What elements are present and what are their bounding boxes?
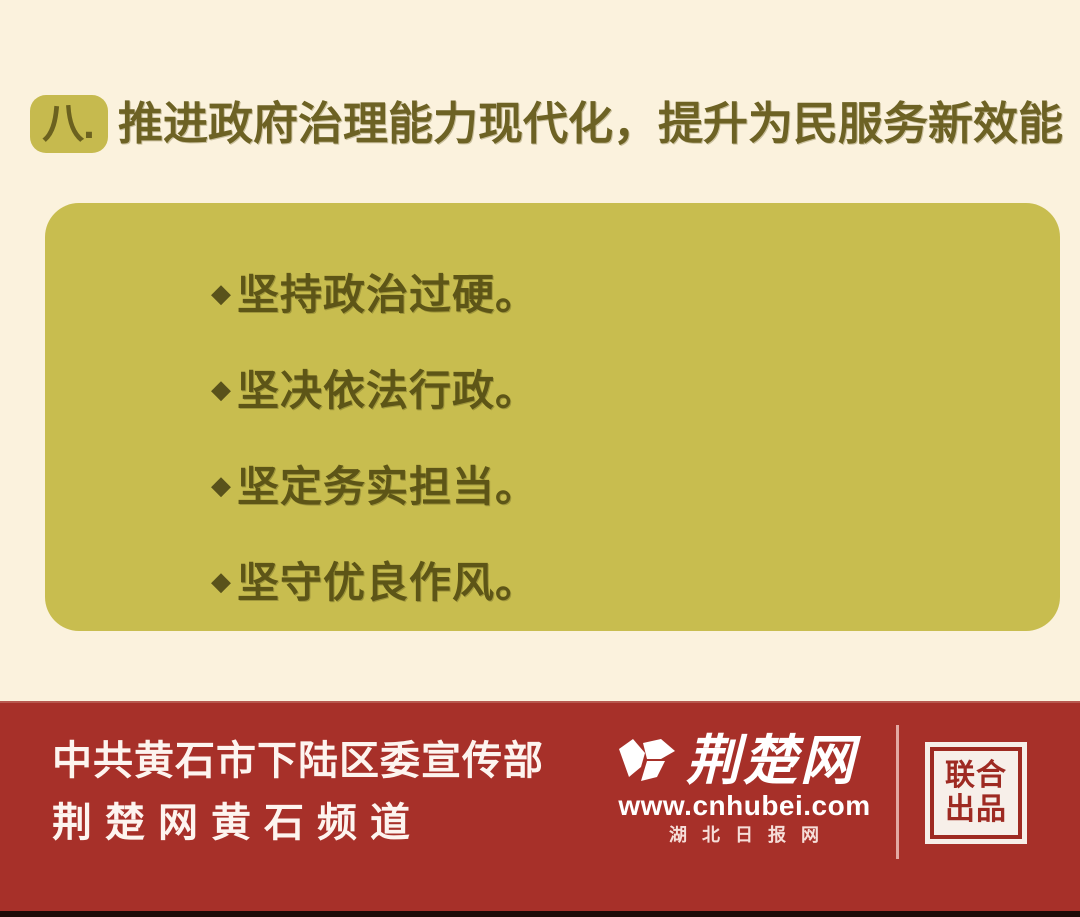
seal-line-1: 联合: [945, 759, 1007, 793]
footer-top-rule: [0, 701, 1080, 703]
logo-url: www.cnhubei.com: [617, 790, 872, 822]
list-item: ◆ 坚定务实担当。: [45, 439, 1060, 535]
list-item: ◆ 坚守优良作风。: [45, 535, 1060, 631]
list-item: ◆ 坚决依法行政。: [45, 343, 1060, 439]
footer-vertical-divider: [896, 725, 899, 859]
publisher-channel: 荆楚网黄石频道: [52, 792, 592, 854]
diamond-bullet-icon: ◆: [211, 376, 237, 402]
publisher-department: 中共黄石市下陆区委宣传部: [52, 730, 592, 792]
content-panel: ◆ 坚持政治过硬。 ◆ 坚决依法行政。 ◆ 坚定务实担当。 ◆ 坚守优良作风。: [45, 203, 1060, 631]
section-number-badge: 八.: [30, 95, 108, 153]
list-item-label: 坚决依法行政。: [237, 368, 538, 414]
publisher-block: 中共黄石市下陆区委宣传部 荆楚网黄石频道: [52, 730, 592, 854]
bullet-list: ◆ 坚持政治过硬。 ◆ 坚决依法行政。 ◆ 坚定务实担当。 ◆ 坚守优良作风。: [45, 247, 1060, 631]
diamond-bullet-icon: ◆: [211, 472, 237, 498]
seal-line-2: 出品: [945, 793, 1007, 827]
poster-canvas: 八. 推进政府治理能力现代化，提升为民服务新效能 ◆ 坚持政治过硬。 ◆ 坚决依…: [0, 0, 1080, 917]
list-item-label: 坚守优良作风。: [237, 560, 538, 606]
logo-wordmark: 荆楚网: [686, 733, 857, 789]
joint-production-seal: 联合 出品: [925, 742, 1027, 844]
footer-band: 中共黄石市下陆区委宣传部 荆楚网黄石频道 荆楚网 www.cnhubei.com…: [0, 701, 1080, 917]
cnhubei-logo: 荆楚网 www.cnhubei.com 湖北日报网: [617, 727, 872, 852]
page-title: 推进政府治理能力现代化，提升为民服务新效能: [118, 95, 1080, 153]
list-item: ◆ 坚持政治过硬。: [45, 247, 1060, 343]
header-title-row: 八. 推进政府治理能力现代化，提升为民服务新效能: [0, 88, 1080, 160]
list-item-label: 坚持政治过硬。: [237, 272, 538, 318]
footer-bottom-rule: [0, 911, 1080, 917]
list-item-label: 坚定务实担当。: [237, 464, 538, 510]
diamond-bullet-icon: ◆: [211, 568, 237, 594]
logo-subtitle: 湖北日报网: [617, 824, 872, 846]
logo-top-row: 荆楚网: [617, 727, 872, 789]
cnhubei-swoosh-icon: [617, 737, 677, 789]
seal-border: 联合 出品: [930, 747, 1022, 839]
diamond-bullet-icon: ◆: [211, 280, 237, 306]
